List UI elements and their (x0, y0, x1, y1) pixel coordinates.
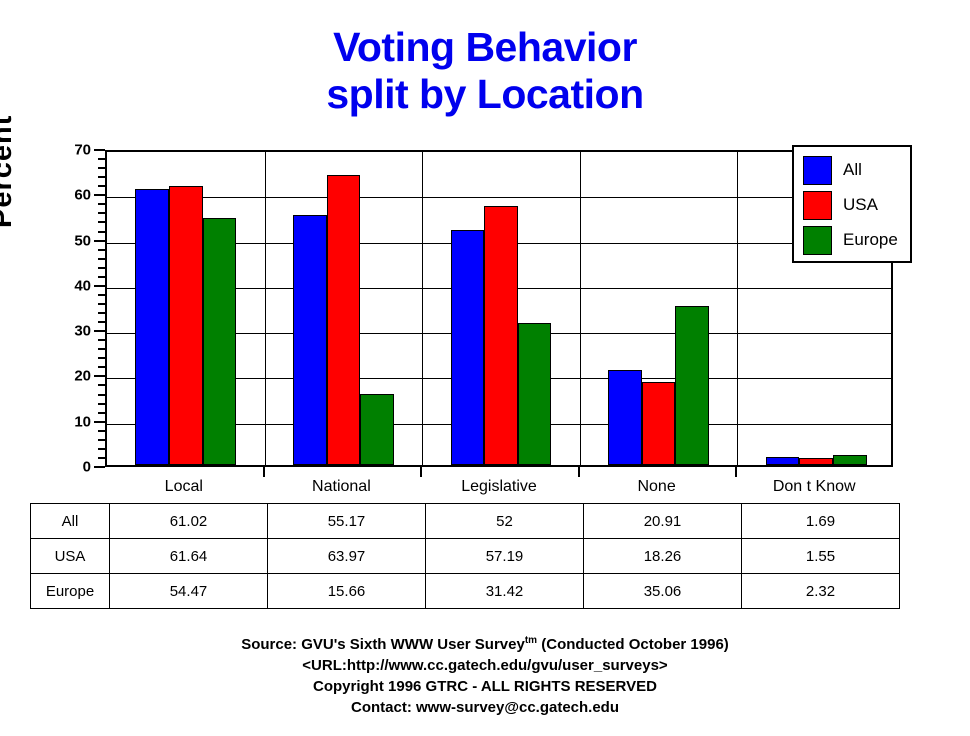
y-tick-major (94, 240, 105, 242)
table-cell: 20.91 (584, 504, 742, 539)
table-row-header: All (31, 504, 110, 539)
category-separator (265, 152, 266, 465)
table-cell: 52 (426, 504, 584, 539)
y-tick-minor (98, 412, 105, 414)
y-tick-minor (98, 212, 105, 214)
y-tick-label: 0 (31, 459, 91, 476)
y-tick-minor (98, 221, 105, 223)
y-tick-minor (98, 312, 105, 314)
x-label-legislative: Legislative (461, 478, 537, 496)
x-label-don-t-know: Don t Know (773, 478, 856, 496)
y-tick-minor (98, 231, 105, 233)
bar-europe-legislative (518, 323, 552, 465)
y-tick-major (94, 375, 105, 377)
table-cell: 31.42 (426, 574, 584, 609)
y-tick-minor (98, 176, 105, 178)
y-tick-minor (98, 267, 105, 269)
y-tick-minor (98, 294, 105, 296)
legend-swatch-europe (803, 226, 832, 255)
y-tick-label: 20 (31, 368, 91, 385)
y-tick-minor (98, 366, 105, 368)
footer-line-url: <URL:http://www.cc.gatech.edu/gvu/user_s… (0, 655, 970, 676)
table-cell: 61.02 (110, 504, 268, 539)
y-axis: 010203040506070 (0, 0, 105, 470)
bar-usa-don-t-know (799, 458, 833, 465)
table-cell: 61.64 (110, 539, 268, 574)
table-cell: 15.66 (268, 574, 426, 609)
y-tick-minor (98, 339, 105, 341)
footer-source-text: Source: GVU's Sixth WWW User Survey (241, 636, 525, 653)
bar-all-none (608, 370, 642, 465)
y-tick-minor (98, 394, 105, 396)
footer-source-date: (Conducted October 1996) (537, 636, 729, 653)
table-cell: 1.55 (742, 539, 900, 574)
table-row-header: USA (31, 539, 110, 574)
legend-label-europe: Europe (843, 230, 898, 250)
legend-label-usa: USA (843, 195, 878, 215)
y-tick-label: 60 (31, 187, 91, 204)
legend-swatch-usa (803, 191, 832, 220)
title-line-1: Voting Behavior (0, 24, 970, 71)
category-separator (737, 152, 738, 465)
bar-usa-none (642, 382, 676, 465)
y-tick-major (94, 330, 105, 332)
y-tick-minor (98, 185, 105, 187)
y-tick-label: 30 (31, 323, 91, 340)
y-tick-label: 40 (31, 277, 91, 294)
legend-swatch-all (803, 156, 832, 185)
x-tick (735, 467, 737, 477)
bar-usa-local (169, 186, 203, 465)
table-cell: 63.97 (268, 539, 426, 574)
legend-item-all[interactable]: All (803, 156, 907, 188)
y-tick-minor (98, 348, 105, 350)
x-tick (263, 467, 265, 477)
title-line-2: split by Location (0, 71, 970, 118)
chart-page: { "title": { "line1": "Voting Behavior",… (0, 0, 970, 736)
table-cell: 35.06 (584, 574, 742, 609)
table-cell: 55.17 (268, 504, 426, 539)
bar-all-don-t-know (766, 457, 800, 465)
x-label-local: Local (165, 478, 203, 496)
category-separator (580, 152, 581, 465)
y-tick-minor (98, 321, 105, 323)
bar-all-local (135, 189, 169, 465)
y-tick-major (94, 466, 105, 468)
footer-line-copyright: Copyright 1996 GTRC - ALL RIGHTS RESERVE… (0, 676, 970, 697)
legend-item-europe[interactable]: Europe (803, 226, 907, 258)
footer-line-source: Source: GVU's Sixth WWW User Surveytm (C… (0, 630, 970, 655)
y-tick-major (94, 149, 105, 151)
table-row: All61.0255.175220.911.69 (31, 504, 900, 539)
y-tick-label: 10 (31, 413, 91, 430)
x-label-national: National (312, 478, 371, 496)
trademark-mark: tm (525, 635, 537, 646)
table-row: Europe54.4715.6631.4235.062.32 (31, 574, 900, 609)
legend-label-all: All (843, 160, 862, 180)
bar-usa-legislative (484, 206, 518, 465)
data-table-body: All61.0255.175220.911.69USA61.6463.9757.… (31, 504, 900, 609)
category-separator (422, 152, 423, 465)
table-row: USA61.6463.9757.1918.261.55 (31, 539, 900, 574)
y-tick-minor (98, 457, 105, 459)
y-tick-minor (98, 403, 105, 405)
table-cell: 1.69 (742, 504, 900, 539)
bar-europe-local (203, 218, 237, 465)
footer-credits: Source: GVU's Sixth WWW User Surveytm (C… (0, 630, 970, 718)
y-tick-major (94, 194, 105, 196)
x-tick (578, 467, 580, 477)
bar-usa-national (327, 175, 361, 465)
table-cell: 57.19 (426, 539, 584, 574)
data-table: All61.0255.175220.911.69USA61.6463.9757.… (30, 503, 900, 609)
y-tick-minor (98, 158, 105, 160)
y-tick-major (94, 421, 105, 423)
bar-all-national (293, 215, 327, 465)
plot-area (105, 150, 893, 467)
bar-all-legislative (451, 230, 485, 465)
y-tick-minor (98, 249, 105, 251)
gridline (107, 197, 891, 198)
x-axis-labels: LocalNationalLegislativeNoneDon t Know (105, 478, 893, 500)
x-tick (420, 467, 422, 477)
y-tick-major (94, 285, 105, 287)
y-tick-minor (98, 357, 105, 359)
y-tick-minor (98, 439, 105, 441)
y-tick-label: 70 (31, 142, 91, 159)
bar-europe-national (360, 394, 394, 465)
y-tick-minor (98, 276, 105, 278)
legend-item-usa[interactable]: USA (803, 191, 907, 223)
y-tick-minor (98, 384, 105, 386)
bar-europe-don-t-know (833, 455, 867, 466)
y-tick-minor (98, 448, 105, 450)
table-row-header: Europe (31, 574, 110, 609)
table-cell: 54.47 (110, 574, 268, 609)
footer-line-contact: Contact: www-survey@cc.gatech.edu (0, 697, 970, 718)
x-label-none: None (637, 478, 675, 496)
page-title: Voting Behavior split by Location (0, 24, 970, 118)
y-tick-minor (98, 167, 105, 169)
bar-europe-none (675, 306, 709, 465)
y-tick-label: 50 (31, 232, 91, 249)
y-tick-minor (98, 303, 105, 305)
y-tick-minor (98, 203, 105, 205)
table-cell: 18.26 (584, 539, 742, 574)
chart-legend: AllUSAEurope (792, 145, 912, 263)
y-tick-minor (98, 430, 105, 432)
table-cell: 2.32 (742, 574, 900, 609)
y-tick-minor (98, 258, 105, 260)
